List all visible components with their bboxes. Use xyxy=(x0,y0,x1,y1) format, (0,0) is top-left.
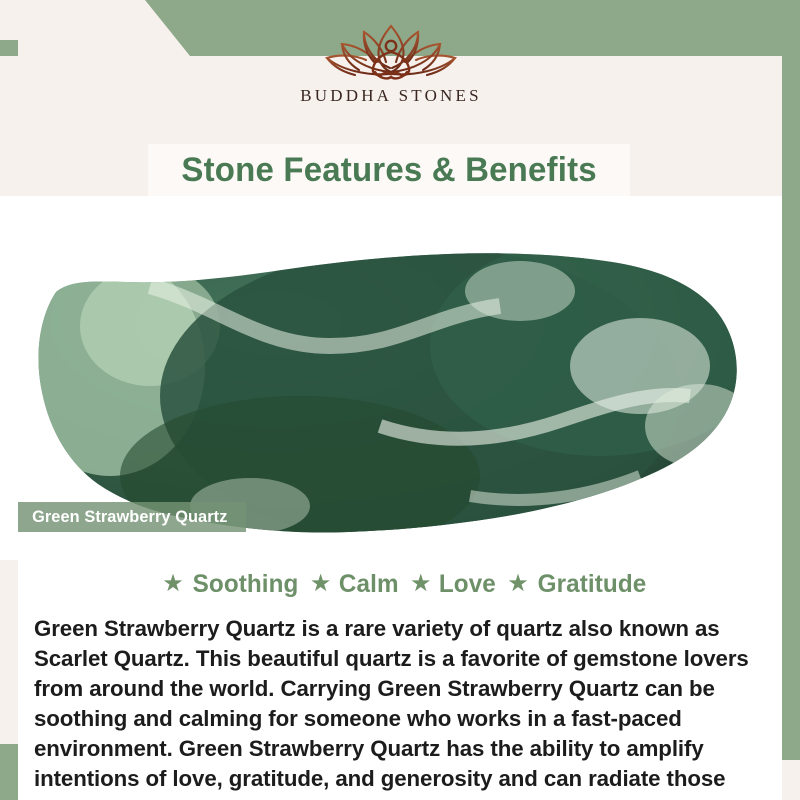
description-paragraph: Green Strawberry Quartz is a rare variet… xyxy=(34,614,767,800)
lotus-meditating-buddha-icon xyxy=(311,22,471,84)
image-caption: Green Strawberry Quartz xyxy=(18,502,246,532)
decor-edge-right xyxy=(782,0,800,760)
star-icon: ★ xyxy=(310,572,332,596)
brand-header: BUDDHA STONES xyxy=(0,56,782,144)
keyword-label: Soothing xyxy=(192,570,298,599)
keyword-label: Love xyxy=(439,570,496,599)
keyword-item-gratitude: ★ Gratitude xyxy=(497,570,648,599)
keyword-item-love: ★ Love xyxy=(400,570,497,599)
keyword-label: Calm xyxy=(339,570,399,599)
image-caption-label: Green Strawberry Quartz xyxy=(32,507,227,527)
keyword-label: Gratitude xyxy=(537,570,646,599)
star-icon: ★ xyxy=(410,572,432,596)
hero-image: Green Strawberry Quartz xyxy=(0,196,782,560)
keyword-list: ★ Soothing ★ Calm ★ Love ★ Gratitude xyxy=(18,570,782,599)
brand-wordmark: BUDDHA STONES xyxy=(300,86,482,106)
content-card: BUDDHA STONES Stone Features & Benefits xyxy=(0,56,782,744)
infographic-page: BUDDHA STONES Stone Features & Benefits xyxy=(0,0,800,800)
keyword-item-soothing: ★ Soothing xyxy=(152,570,300,599)
keyword-item-calm: ★ Calm xyxy=(300,570,400,599)
star-icon: ★ xyxy=(507,572,529,596)
text-panel: ★ Soothing ★ Calm ★ Love ★ Gratitude Gre… xyxy=(18,560,782,800)
page-title: Stone Features & Benefits xyxy=(181,151,596,190)
star-icon: ★ xyxy=(162,572,184,596)
title-banner: Stone Features & Benefits xyxy=(148,144,630,196)
